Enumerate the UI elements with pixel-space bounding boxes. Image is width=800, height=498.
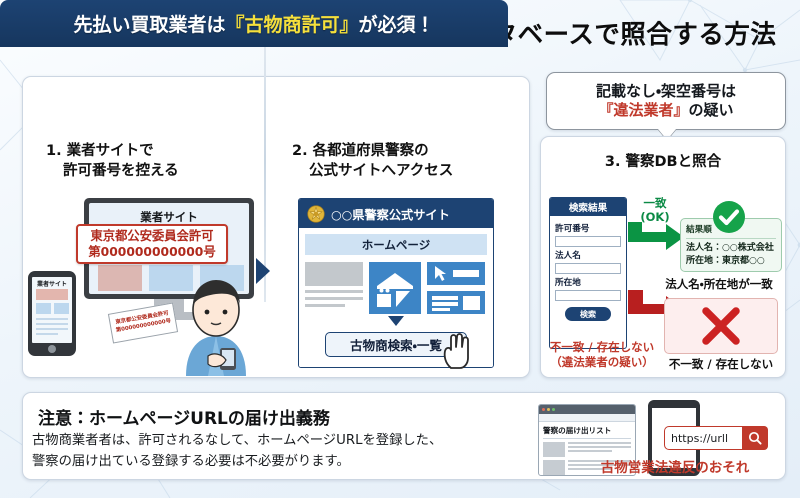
url-search-bar[interactable]: https://urll [664, 426, 768, 450]
law-violation-warning: 古物営業法違反のおそれ [560, 456, 790, 476]
notice-body-line-2: 警察の届け出ている登録する必要は不必要がります。 [32, 452, 512, 473]
pointing-hand-icon [440, 330, 474, 370]
website-title: ○○県警察公式サイト [331, 205, 450, 223]
police-emblem-icon [307, 205, 325, 223]
list-thumbnail [543, 442, 565, 457]
search-icon[interactable] [742, 426, 768, 450]
phone-text-line [36, 328, 68, 330]
result-divider [686, 238, 776, 239]
step-1-index: 1. [46, 142, 62, 162]
tile-line [305, 290, 363, 293]
tile-cursor-box [427, 262, 485, 285]
field-label-permit-number: 許可番号 [555, 222, 621, 234]
website-content-tiles [305, 262, 487, 314]
flow-arrow-1-to-2 [256, 258, 270, 284]
step-1-line1: 業者サイトで [67, 143, 154, 159]
bubble-line-2-post: の疑い [689, 101, 734, 119]
ribbon-post: が必須！ [359, 14, 435, 36]
bubble-line-1: 記載なし・架空番号は [596, 82, 736, 102]
browser-list-item [543, 442, 631, 457]
browser-addressbar[interactable] [539, 414, 635, 422]
form-submit-button[interactable]: 検索 [565, 307, 611, 321]
magnifier-glyph [748, 431, 762, 445]
phone-block [54, 303, 69, 314]
match-ok-label: 一致 (OK) [632, 196, 678, 225]
step-3-label: 3. 警察DBと照合 [540, 150, 786, 171]
phone-home-button [48, 345, 56, 353]
bubble-line-2: 『違法業者』の疑い [598, 101, 733, 121]
url-value: https://urll [671, 432, 728, 445]
red-x-icon [699, 304, 743, 348]
step-3-heading: 3. 警察DBと照合 [540, 150, 786, 171]
content-tile-building [369, 262, 421, 314]
search-button-label: 古物商検索・一覧 [350, 335, 442, 354]
step-2-heading: 2. 各都道府県警察の 公式サイトへアクセス [292, 142, 453, 181]
ribbon-banner: 先払い買取業者は『古物商許可』が必須！ [0, 0, 508, 47]
mismatch-line-1: 不一致 / 存在しない [541, 340, 663, 355]
tile-table-box [427, 291, 485, 314]
monitor-site-title: 業者サイト [89, 209, 249, 225]
cursor-arrow-icon [427, 262, 485, 285]
match-label-line1: 一致 [632, 196, 678, 210]
infographic-canvas: 公安委員会の古物商許可番号を警察データベースで照合する方法 先払い買取業者は『古… [0, 0, 800, 498]
browser-page-title: 警察の届け出リスト [543, 425, 631, 439]
form-header-label: 検索結果 [569, 200, 607, 214]
notice-title: 注意：ホームページURLの届け出義務 [38, 404, 330, 429]
form-header: 検索結果 [550, 198, 626, 216]
phone-text-line [36, 333, 58, 335]
smartphone-screen: 業者サイト [32, 277, 72, 343]
field-label-company-name: 法人名 [555, 249, 621, 261]
tile-line [305, 304, 345, 307]
field-input-permit-number[interactable] [555, 236, 621, 247]
step-2-line1: 各都道府県警察の [313, 143, 429, 159]
panel-1-illustration: 業者サイト 東京都公安委員会許可 第000000000000号 業者サイト [26, 196, 262, 376]
license-line-2: 第000000000000号 [88, 244, 215, 260]
list-lines [568, 442, 631, 457]
content-tile-list [427, 262, 485, 314]
browser-dot-maximize [552, 408, 555, 411]
monitor-block [98, 265, 142, 291]
match-caption: 法人名・所在地が一致 [652, 276, 786, 292]
result-company-name: 法人名：○○株式会社 [686, 242, 776, 255]
field-input-address[interactable] [555, 290, 621, 301]
ribbon-pre: 先払い買取業者は [73, 14, 225, 36]
browser-dot-minimize [547, 408, 550, 411]
phone-text-line [36, 323, 68, 325]
form-submit-label: 検索 [580, 309, 596, 320]
green-match-arrow-icon [628, 222, 684, 256]
tile-line [305, 297, 363, 300]
content-tile-text [305, 262, 363, 314]
license-line-1: 東京都公安委員会許可 [91, 228, 214, 244]
phone-block [36, 303, 51, 314]
ribbon-text: 先払い買取業者は『古物商許可』が必須！ [73, 10, 434, 37]
website-header: ○○県警察公式サイト [299, 199, 493, 228]
phone-text-line [36, 318, 68, 320]
green-check-icon [712, 200, 746, 234]
result-card-mismatch [664, 298, 778, 354]
building-icon [369, 262, 421, 314]
ribbon-highlight: 『古物商許可』 [225, 14, 358, 36]
field-label-address: 所在地 [555, 276, 621, 288]
police-db-search-form: 検索結果 許可番号 法人名 所在地 検索 [549, 197, 627, 349]
notice-body: 古物商業者者は、許可されるなして、ホームページURLを登録した、 警察の届け出て… [32, 431, 512, 472]
mismatch-line-2: （違法業者の疑い） [541, 355, 663, 370]
bubble-highlight: 『違法業者』 [598, 101, 688, 119]
scroll-down-arrow-icon [388, 316, 404, 326]
notice-body-line-1: 古物商業者者は、許可されるなして、ホームページURLを登録した、 [32, 431, 512, 452]
homepage-label-bar: ホームページ [305, 234, 487, 255]
smartphone-site-title: 業者サイト [32, 279, 72, 288]
result-address: 所在地：東京都○○ [686, 255, 776, 268]
step-1-heading: 1. 業者サイトで 許可番号を控える [46, 142, 179, 181]
browser-dot-close [542, 408, 545, 411]
list-line [568, 442, 631, 444]
step-2-index: 2. [292, 142, 308, 162]
panel-2-illustration: ○○県警察公式サイト ホームページ [290, 196, 522, 376]
form-body: 許可番号 法人名 所在地 検索 [550, 216, 626, 325]
homepage-label: ホームページ [362, 237, 430, 253]
list-line [568, 446, 631, 448]
warning-speech-bubble: 記載なし・架空番号は 『違法業者』の疑い [546, 72, 786, 130]
smartphone-icon: 業者サイト [28, 271, 76, 356]
step-1-line2: 許可番号を控える [46, 162, 179, 182]
browser-titlebar [539, 405, 635, 414]
tile-thumbnail [305, 262, 363, 286]
field-input-company-name[interactable] [555, 263, 621, 274]
list-line [568, 450, 612, 452]
step-2-line2: 公式サイトへアクセス [292, 162, 453, 182]
phone-block [36, 289, 68, 300]
table-icon [427, 291, 485, 314]
mismatch-label: 不一致 / 存在しない （違法業者の疑い） [541, 340, 663, 370]
license-number-callout: 東京都公安委員会許可 第000000000000号 [76, 224, 228, 264]
mismatch-caption: 不一致 / 存在しない [654, 356, 788, 372]
person-illustration [168, 278, 264, 376]
